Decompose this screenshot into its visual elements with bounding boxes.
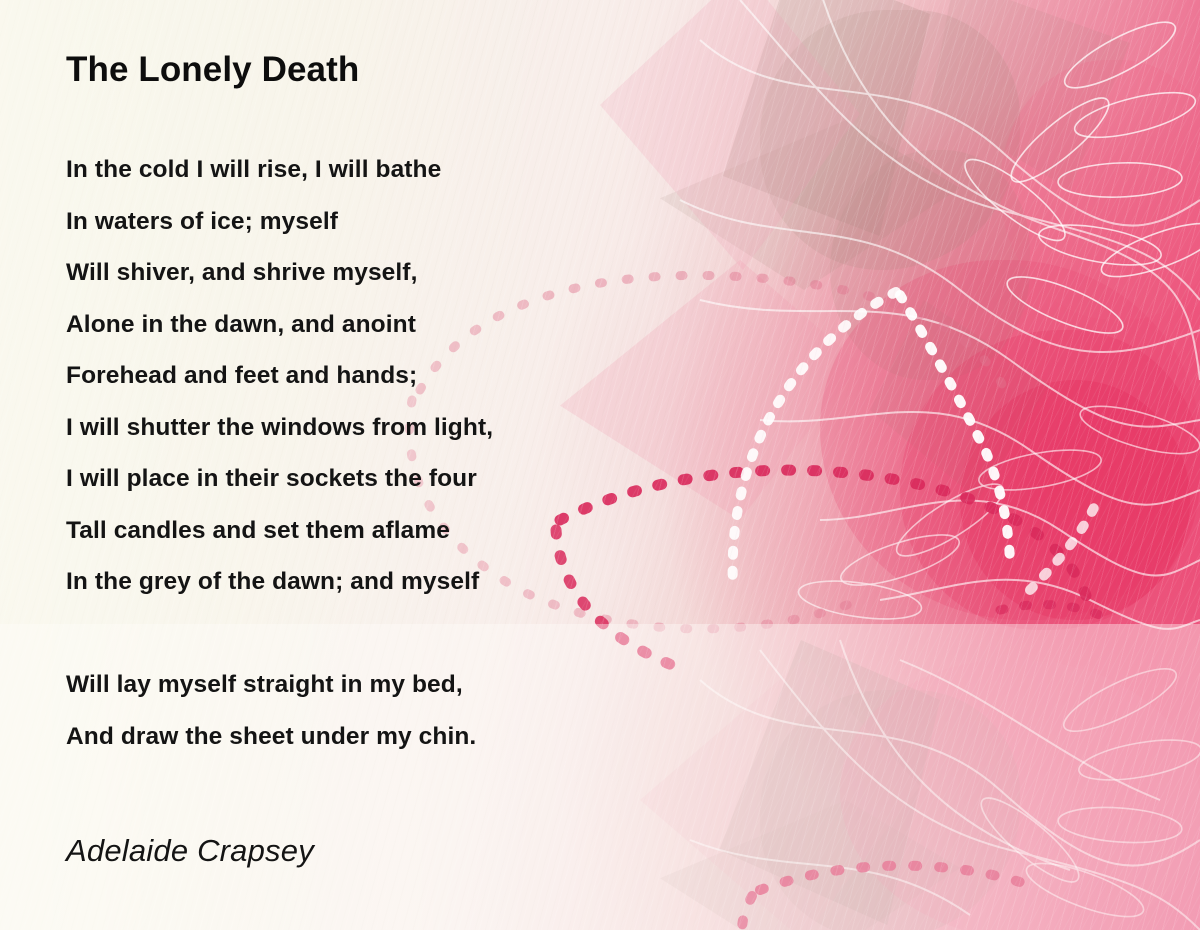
poem-line: Forehead and feet and hands;: [66, 361, 886, 413]
poem-line: Will shiver, and shrive myself,: [66, 258, 886, 310]
poem-poster: The Lonely Death In the cold I will rise…: [0, 0, 1200, 930]
poem-line: In waters of ice; myself: [66, 207, 886, 259]
poem-line: Will lay myself straight in my bed,: [66, 670, 886, 722]
poem-content: The Lonely Death In the cold I will rise…: [0, 0, 1200, 930]
poem-line: I will place in their sockets the four: [66, 464, 886, 516]
poem-body: In the cold I will rise, I will bathe In…: [66, 155, 886, 773]
poem-line: Tall candles and set them aflame: [66, 516, 886, 568]
poem-line: And draw the sheet under my chin.: [66, 722, 886, 774]
poem-line: In the cold I will rise, I will bathe: [66, 155, 886, 207]
poem-line: Alone in the dawn, and anoint: [66, 310, 886, 362]
poem-line: In the grey of the dawn; and myself: [66, 567, 886, 619]
page-title: The Lonely Death: [66, 50, 359, 90]
stanza-break: [66, 619, 886, 671]
poem-author: Adelaide Crapsey: [66, 833, 314, 869]
poem-line: I will shutter the windows from light,: [66, 413, 886, 465]
